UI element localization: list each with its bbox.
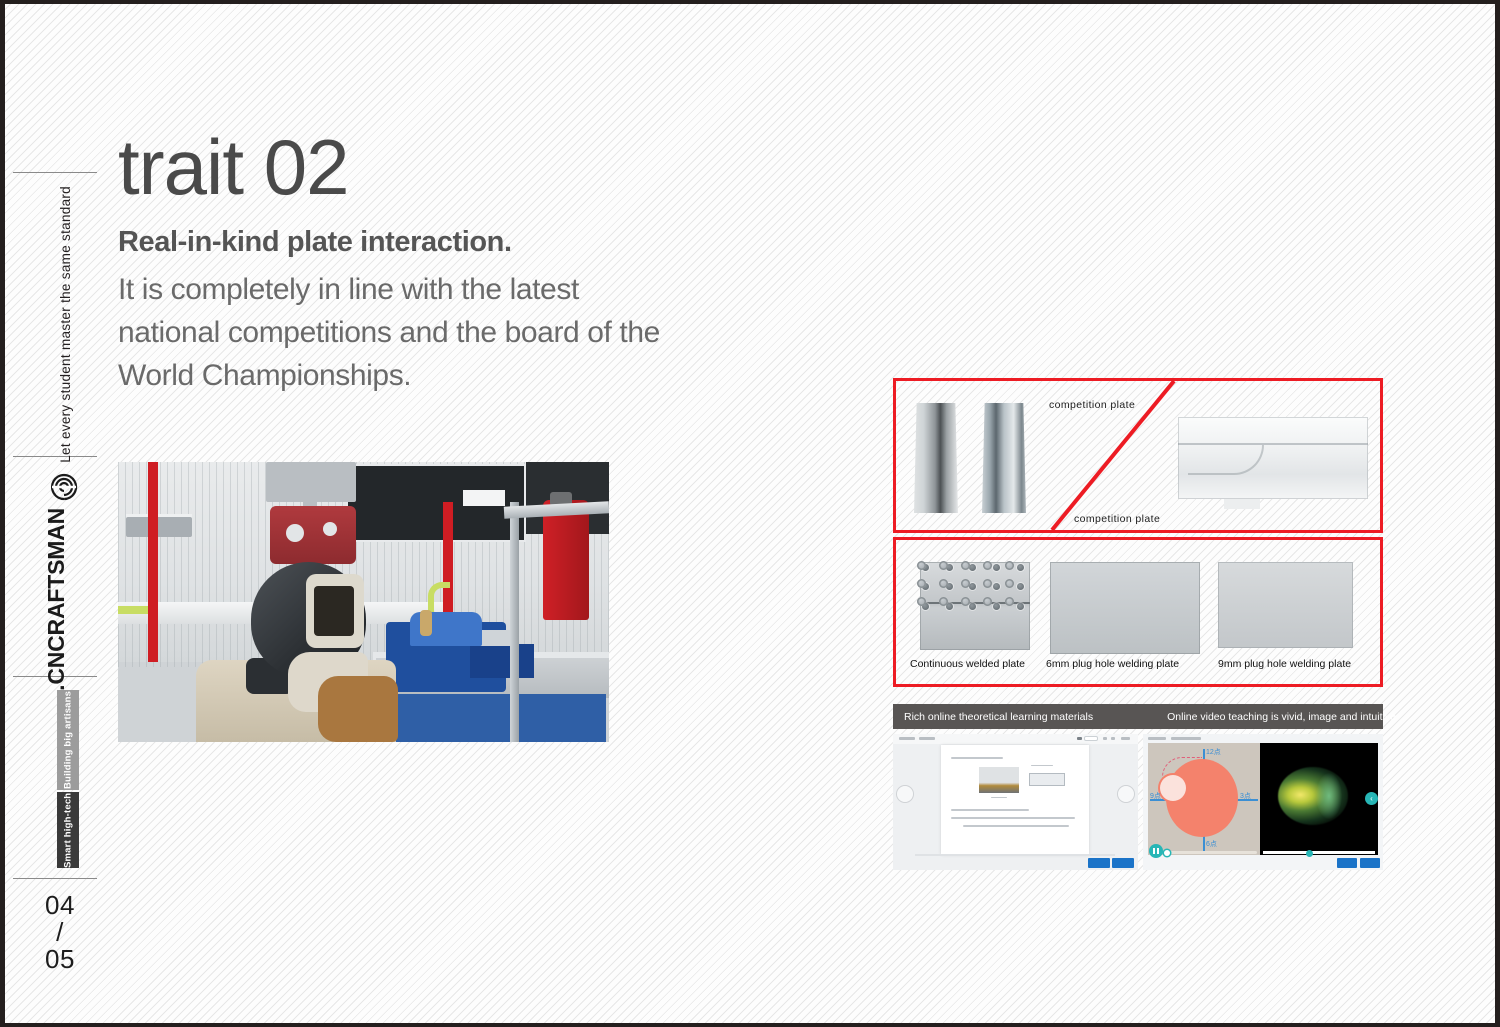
competition-plate-label-bottom: competition plate — [1074, 513, 1160, 525]
weld-arc-spot — [1160, 775, 1186, 801]
courseware-page — [941, 745, 1089, 855]
video-progress-bar[interactable] — [1263, 851, 1375, 854]
video-collapse-icon[interactable]: ‹ — [1365, 792, 1378, 805]
clock-label-9: 9点 — [1150, 791, 1161, 801]
clock-label-3: 3点 — [1240, 791, 1251, 801]
badge-smart-high-tech: Smart high-tech — [57, 792, 79, 868]
welding-photo — [118, 462, 609, 742]
6mm-plug-hole-plate — [1050, 562, 1200, 654]
features-banner: Rich online theoretical learning materia… — [893, 704, 1383, 729]
page-number-total: 05 — [45, 946, 75, 973]
rail-tagline: Let every student master the same standa… — [58, 186, 73, 463]
page-number: 04 / 05 — [45, 892, 75, 973]
plate-label-9mm: 9mm plug hole welding plate — [1218, 658, 1351, 670]
left-rail: Let every student master the same standa… — [5, 4, 105, 1023]
viewer-toolbar[interactable] — [893, 734, 1138, 744]
brand-name: .CNCRAFTSMAN — [43, 508, 70, 691]
page-title: trait 02 — [118, 128, 738, 206]
cone-plate-left — [914, 403, 958, 513]
spiral-logo-icon — [49, 472, 79, 502]
banner-text-learning-materials: Rich online theoretical learning materia… — [904, 711, 1093, 723]
video-toolbar[interactable] — [1143, 734, 1383, 743]
video-action-button-2[interactable] — [1360, 858, 1380, 868]
page-number-separator: / — [45, 919, 75, 946]
page-number-current: 04 — [45, 892, 75, 919]
video-action-button-1[interactable] — [1337, 858, 1357, 868]
welding-arc-video[interactable] — [1260, 743, 1378, 855]
page-border-right — [1495, 0, 1500, 1027]
viewer-action-button-1[interactable] — [1088, 858, 1110, 868]
brand-badges: Building big artisans Smart high-tech — [57, 690, 83, 870]
headline-lede: Real-in-kind plate interaction. — [118, 228, 738, 257]
prev-page-button[interactable] — [897, 786, 913, 802]
plate-label-6mm: 6mm plug hole welding plate — [1046, 658, 1179, 670]
badge-building-big-artisans: Building big artisans — [57, 690, 79, 790]
9mm-plug-hole-plate — [1218, 562, 1353, 648]
cone-plate-right — [982, 403, 1026, 513]
viewer-action-button-2[interactable] — [1112, 858, 1134, 868]
pause-button[interactable] — [1149, 844, 1163, 858]
plate-label-continuous: Continuous welded plate — [910, 658, 1025, 670]
weld-pool-diagram: 12点 3点 6点 9点 — [1148, 743, 1260, 855]
courseware-photo — [979, 767, 1019, 793]
diagram-progress-bar[interactable] — [1165, 851, 1257, 854]
long-competition-panel — [1178, 417, 1368, 499]
headline-block: trait 02 Real-in-kind plate interaction.… — [118, 128, 738, 397]
diagram-progress-handle[interactable] — [1164, 850, 1170, 856]
brochure-page: Let every student master the same standa… — [0, 0, 1500, 1027]
page-border-bottom — [0, 1023, 1500, 1027]
welding-arc-halo — [1316, 773, 1342, 819]
next-page-button[interactable] — [1118, 786, 1134, 802]
clock-label-12: 12点 — [1206, 747, 1221, 757]
banner-text-video-teaching: Online video teaching is vivid, image an… — [1167, 711, 1396, 723]
rail-divider — [13, 456, 97, 457]
rail-divider — [13, 878, 97, 879]
courseware-viewer-screenshot[interactable] — [893, 734, 1138, 870]
panel-tab — [1224, 499, 1260, 509]
product-showcase: competition plate competition plate — [893, 378, 1383, 687]
screenshot-row: 12点 3点 6点 9点 ‹ — [893, 734, 1383, 870]
brand-block: .CNCRAFTSMAN — [43, 472, 89, 672]
competition-plate-box: competition plate competition plate — [893, 378, 1383, 533]
viewer-scrollbar[interactable] — [915, 854, 1115, 856]
welded-plate-box: Continuous welded plate 6mm plug hole we… — [893, 537, 1383, 687]
courseware-diagram — [1029, 773, 1065, 786]
welding-video-screenshot[interactable]: 12点 3点 6点 9点 ‹ — [1143, 734, 1383, 870]
rail-divider — [13, 172, 97, 173]
clock-label-6: 6点 — [1206, 839, 1217, 849]
page-border-top — [0, 0, 1500, 4]
hole-grid-9mm — [910, 556, 1020, 610]
competition-plate-label-top: competition plate — [1049, 399, 1135, 411]
video-progress-handle[interactable] — [1306, 850, 1313, 857]
headline-body: It is completely in line with the latest… — [118, 268, 663, 397]
